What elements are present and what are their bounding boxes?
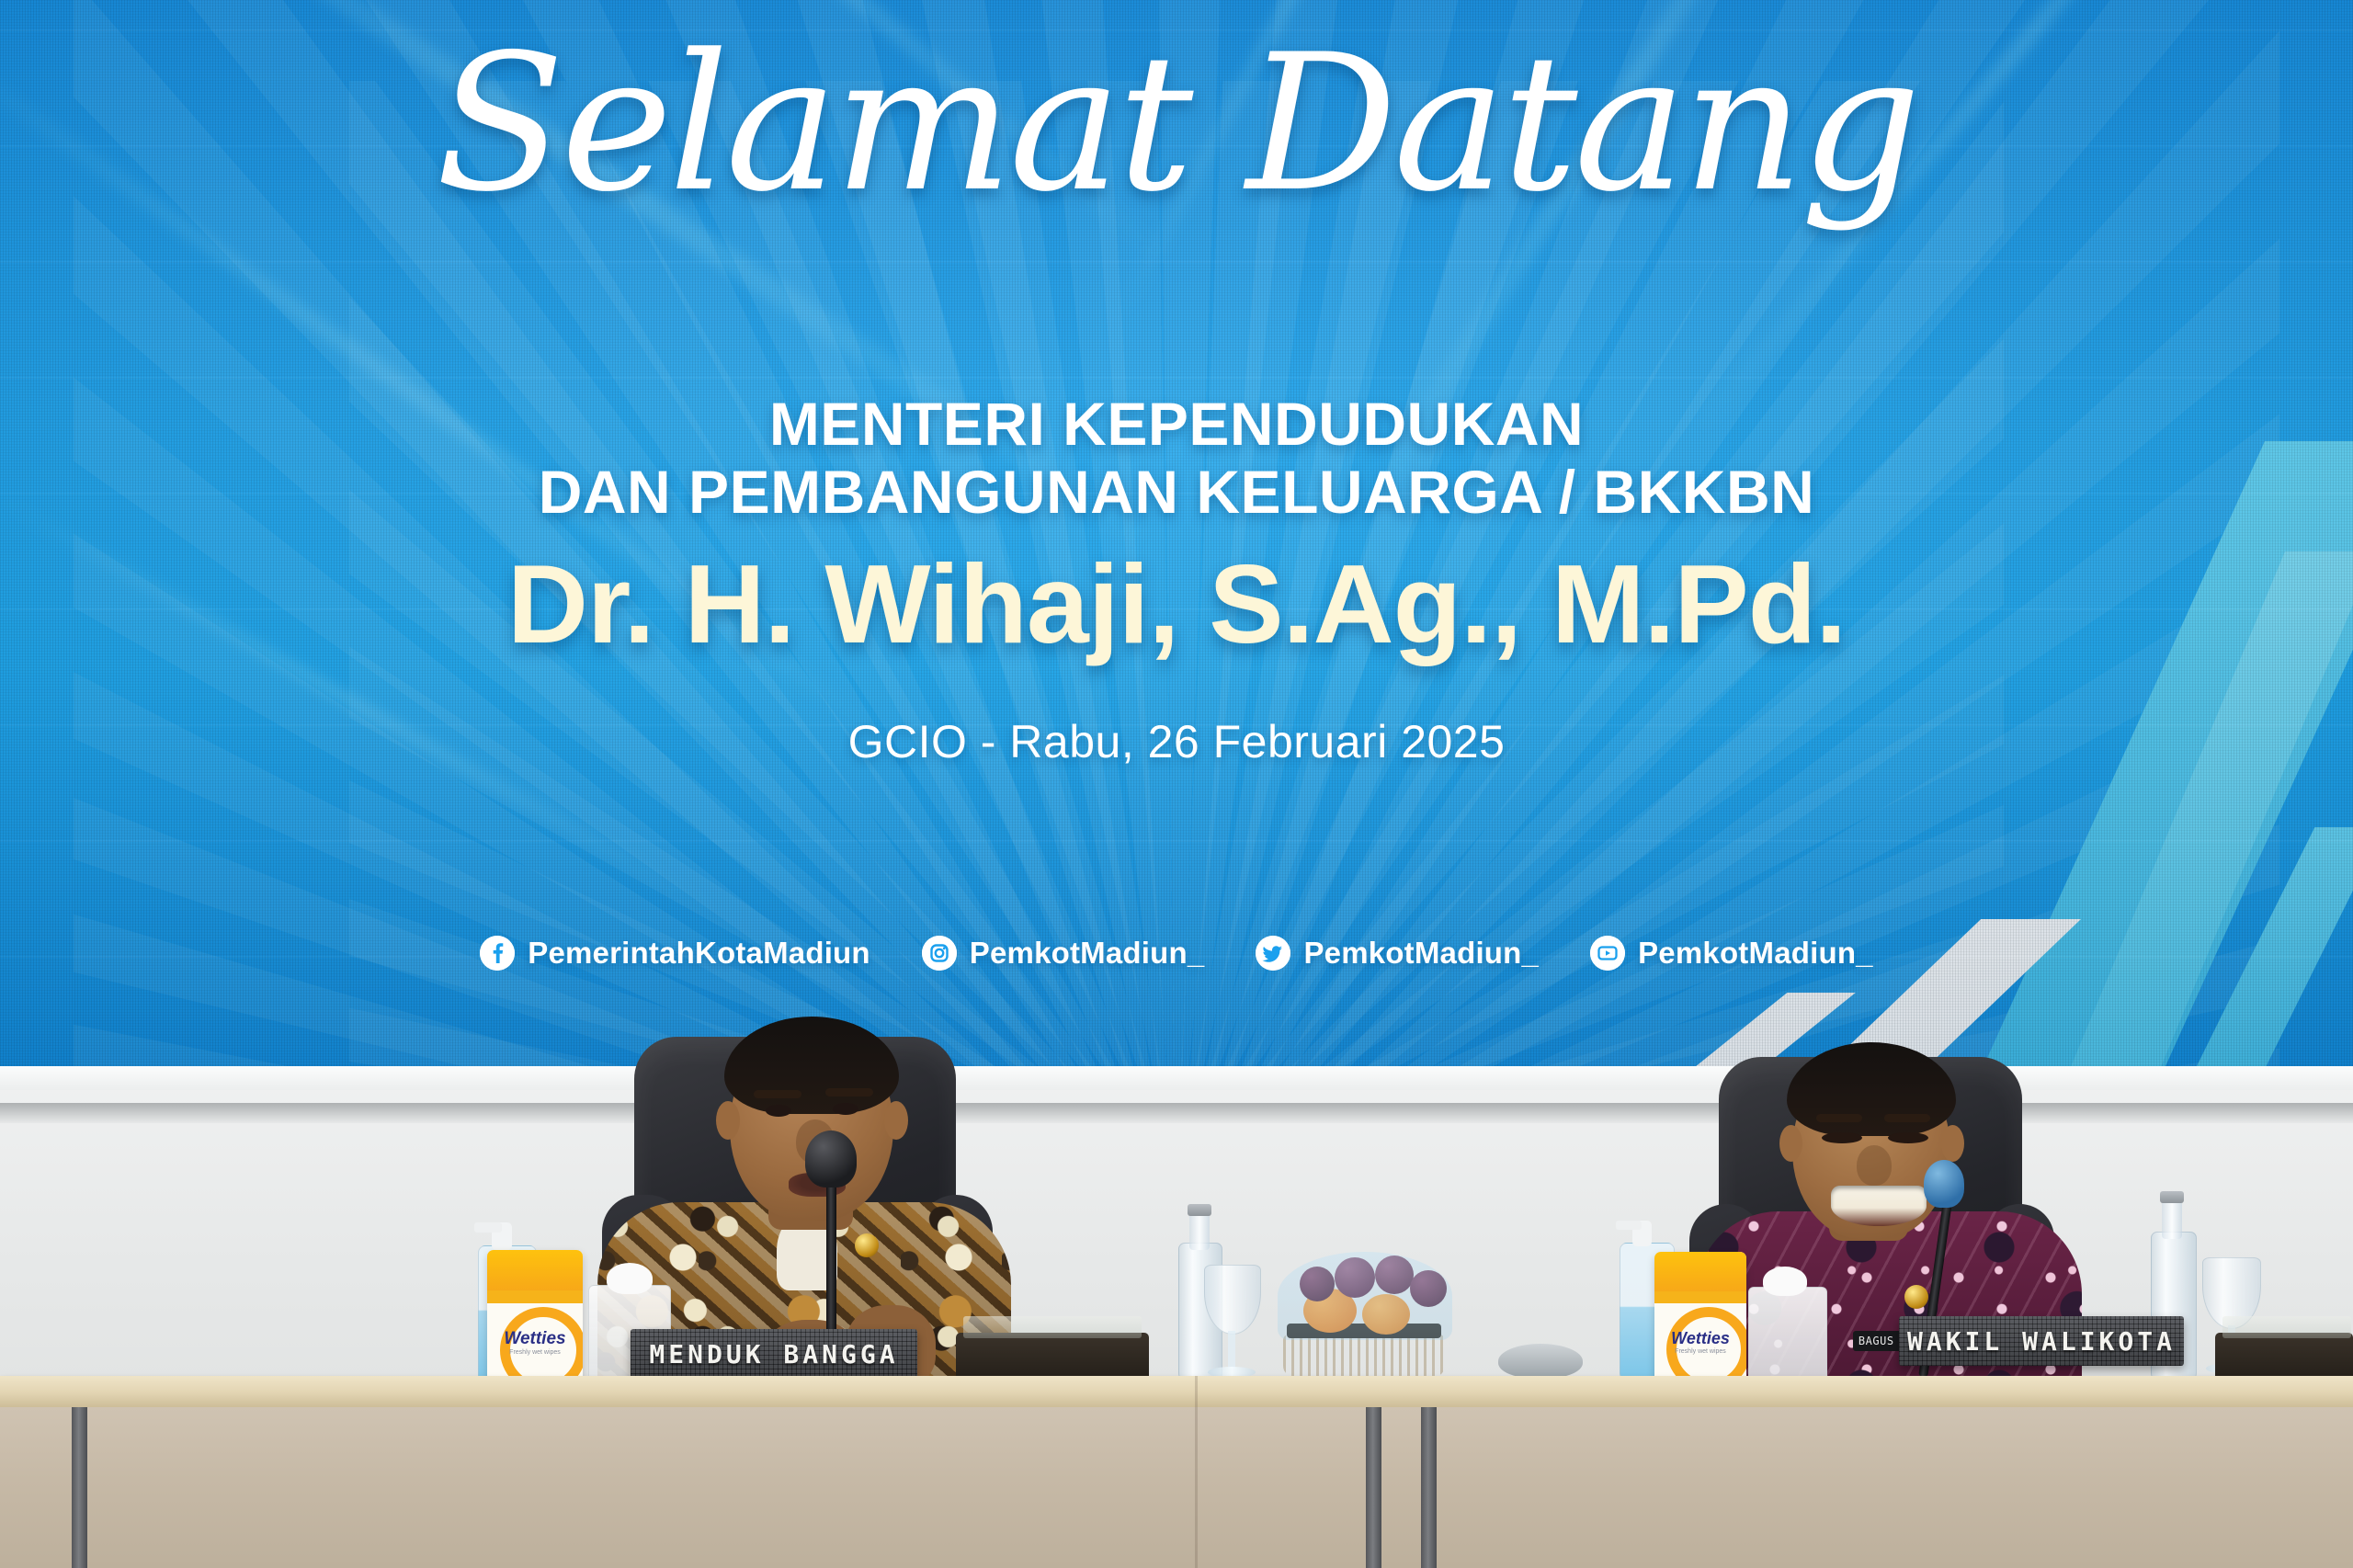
twitter-icon — [1256, 936, 1290, 971]
snack-tray-left — [956, 1333, 1149, 1381]
fruit-basket-center — [1283, 1335, 1445, 1377]
event-date: GCIO - Rabu, 26 Februari 2025 — [0, 715, 2353, 768]
instagram-handle: PemkotMadiun_ — [970, 936, 1205, 971]
wetties-lid — [487, 1250, 583, 1290]
youtube-icon — [1590, 936, 1625, 971]
welcome-script-title: Selamat Datang — [0, 26, 2353, 223]
wetties-brand-label: Wetties — [1654, 1329, 1746, 1348]
youtube-handle: PemkotMadiun_ — [1638, 936, 1873, 971]
goblet-stem-center — [1228, 1331, 1235, 1369]
backdrop-text-layer: Selamat Datang MENTERI KEPENDUDUKAN DAN … — [0, 0, 2353, 1074]
person-right-mouth — [1831, 1186, 1927, 1226]
social-facebook: PemerintahKotaMadiun — [480, 936, 870, 971]
water-bottle-cap-center — [1188, 1204, 1211, 1216]
wetties-lid — [1654, 1252, 1746, 1291]
person-left-ear — [716, 1101, 740, 1140]
person-right-lapel-pin — [1904, 1285, 1928, 1309]
person-left-brow — [825, 1088, 873, 1096]
tissue-puff-left — [607, 1263, 653, 1294]
wetties-sublabel: Freshly wet wipes — [1654, 1348, 1746, 1355]
water-bottle-cap-right — [2160, 1191, 2184, 1203]
person-left-ear — [884, 1101, 908, 1140]
wetties-band — [1654, 1291, 1746, 1303]
pump-nozzle-right — [1616, 1221, 1642, 1230]
person-left-lapel-pin — [855, 1233, 879, 1257]
pump-nozzle-left — [474, 1222, 502, 1233]
wetties-band — [487, 1290, 583, 1302]
table-seam — [1195, 1376, 1198, 1568]
small-dish-center — [1498, 1344, 1583, 1379]
instagram-icon — [922, 936, 957, 971]
conference-table-top — [0, 1376, 2353, 1407]
wetties-canister-right: Wetties Freshly wet wipes — [1654, 1252, 1746, 1384]
ministry-line-2: DAN PEMBANGUNAN KELUARGA / BKKBN — [0, 459, 2353, 527]
social-media-row: PemerintahKotaMadiun PemkotMadiun_ Pemko… — [0, 936, 2353, 971]
person-right-nose — [1857, 1145, 1892, 1186]
person-right-ear — [1779, 1125, 1802, 1162]
snack-tray-right — [2215, 1333, 2353, 1381]
water-bottle-neck-center — [1189, 1211, 1210, 1250]
table-leg — [1366, 1407, 1381, 1568]
person-left-eye — [833, 1103, 858, 1115]
tissue-box-right — [1748, 1287, 1827, 1386]
fruit-basket-wrap — [1278, 1252, 1452, 1340]
facebook-icon — [480, 936, 515, 971]
person-right-ear — [1941, 1125, 1964, 1162]
facebook-handle: PemerintahKotaMadiun — [528, 936, 870, 971]
social-twitter: PemkotMadiun_ — [1256, 936, 1539, 971]
ministry-line-1: MENTERI KEPENDUDUKAN — [0, 391, 2353, 459]
person-right-brow — [1884, 1114, 1930, 1122]
table-leg — [1421, 1407, 1437, 1568]
guest-name: Dr. H. Wihaji, S.Ag., M.Pd. — [0, 542, 2353, 665]
person-right-eye — [1888, 1132, 1928, 1143]
microphone-head-left — [805, 1131, 857, 1187]
person-right-brow — [1816, 1114, 1862, 1122]
snack-tray-cover-left — [963, 1316, 1142, 1338]
microphone-head-right — [1924, 1160, 1964, 1208]
twitter-handle: PemkotMadiun_ — [1303, 936, 1539, 971]
wetties-sublabel: Freshly wet wipes — [487, 1349, 583, 1356]
wetties-brand-label: Wetties — [487, 1329, 583, 1349]
photo-stage: Selamat Datang MENTERI KEPENDUDUKAN DAN … — [0, 0, 2353, 1568]
table-leg — [72, 1407, 87, 1568]
conference-table-front-panel — [0, 1407, 2353, 1568]
wetties-canister-left: Wetties Freshly wet wipes — [487, 1250, 583, 1386]
tissue-puff-right — [1763, 1267, 1807, 1296]
water-bottle-neck-right — [2162, 1199, 2182, 1239]
social-instagram: PemkotMadiun_ — [922, 936, 1205, 971]
social-youtube: PemkotMadiun_ — [1590, 936, 1873, 971]
nameplate-right: WAKIL WALIKOTA — [1899, 1316, 2184, 1366]
person-left-eye — [766, 1105, 791, 1117]
person-left-brow — [754, 1090, 801, 1098]
snack-tray-cover-right — [2222, 1316, 2351, 1338]
ministry-title: MENTERI KEPENDUDUKAN DAN PEMBANGUNAN KEL… — [0, 391, 2353, 527]
nameplate-left: MENDUK BANGGA — [631, 1329, 917, 1379]
person-right-eye — [1822, 1132, 1862, 1143]
